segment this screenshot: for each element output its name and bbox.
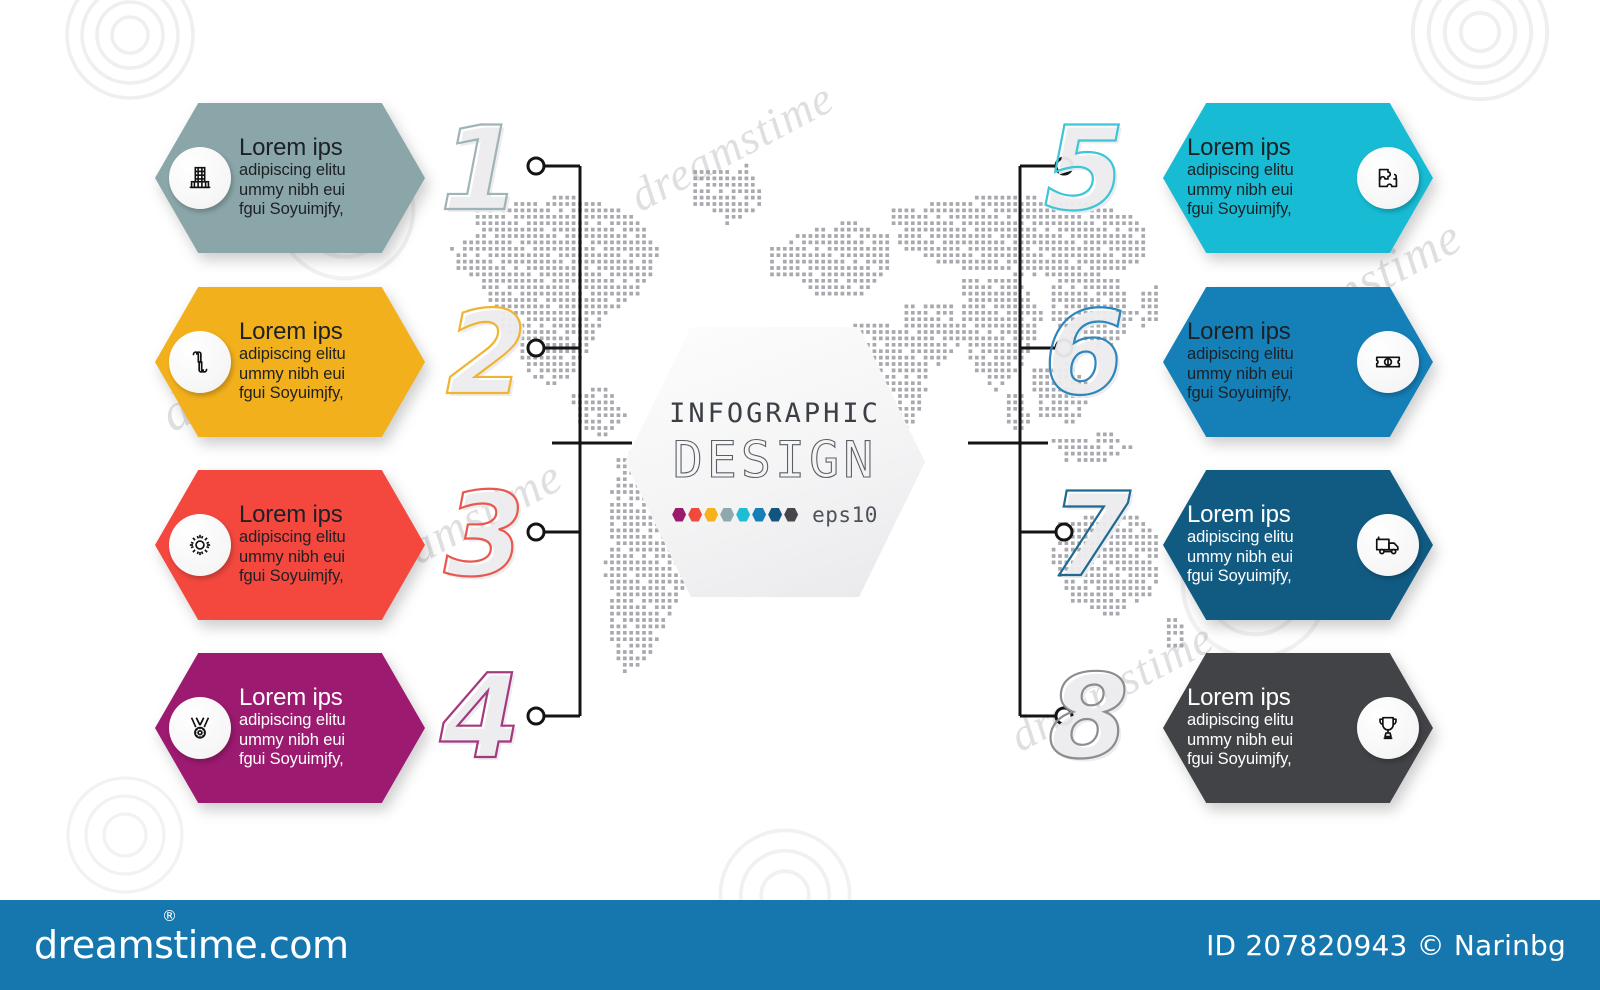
card-line-4: fgui Soyuimjfy, [239, 567, 411, 586]
medal-icon [169, 697, 231, 759]
image-credit: ID 207820943 © Narinbg [1206, 929, 1566, 962]
step-number-2: 2 [446, 296, 527, 412]
card-line-4: fgui Soyuimjfy, [1187, 384, 1351, 403]
center-hexagon: INFOGRAPHIC DESIGN eps10 [625, 327, 925, 597]
card-line-2: adipiscing elitu [239, 161, 411, 180]
color-swatch [736, 508, 750, 522]
step-card-3[interactable]: Lorem ips adipiscing elitu ummy nibh eui… [155, 470, 425, 620]
trophy-icon [1357, 697, 1419, 759]
gear-icon [169, 514, 231, 576]
step-number-1: 1 [440, 112, 521, 228]
card-line-3: ummy nibh eui [239, 731, 411, 750]
step-number-5: 5 [1044, 112, 1125, 228]
color-swatch [704, 508, 718, 522]
watermark-text: dreamstime [621, 71, 843, 222]
center-title-bottom: DESIGN [673, 431, 878, 489]
card-title: Lorem ips [239, 320, 411, 345]
card-line-4: fgui Soyuimjfy, [1187, 567, 1351, 586]
card-line-3: ummy nibh eui [239, 181, 411, 200]
step-number-4: 4 [440, 660, 521, 776]
card-line-3: ummy nibh eui [1187, 548, 1351, 567]
step-card-6[interactable]: Lorem ips adipiscing elitu ummy nibh eui… [1163, 287, 1433, 437]
card-line-3: ummy nibh eui [239, 548, 411, 567]
card-line-3: ummy nibh eui [1187, 731, 1351, 750]
card-line-4: fgui Soyuimjfy, [239, 750, 411, 769]
puzzle-icon [1357, 147, 1419, 209]
card-line-2: adipiscing elitu [1187, 711, 1351, 730]
ticket-icon [1357, 331, 1419, 393]
card-title: Lorem ips [1187, 320, 1351, 345]
card-line-2: adipiscing elitu [1187, 345, 1351, 364]
eps-label: eps10 [812, 503, 878, 527]
color-swatch [688, 508, 702, 522]
step-card-2[interactable]: Lorem ips adipiscing elitu ummy nibh eui… [155, 287, 425, 437]
color-swatch-row: eps10 [672, 503, 878, 527]
step-number-6: 6 [1044, 296, 1125, 412]
card-title: Lorem ips [239, 136, 411, 161]
step-card-7[interactable]: Lorem ips adipiscing elitu ummy nibh eui… [1163, 470, 1433, 620]
step-card-4[interactable]: Lorem ips adipiscing elitu ummy nibh eui… [155, 653, 425, 803]
color-swatch [784, 508, 798, 522]
color-swatch [672, 508, 686, 522]
card-title: Lorem ips [239, 686, 411, 711]
color-swatch [720, 508, 734, 522]
dreamstime-logo-text: dreamstime.com [34, 923, 348, 967]
card-title: Lorem ips [1187, 503, 1351, 528]
color-swatch [768, 508, 782, 522]
card-line-4: fgui Soyuimjfy, [239, 384, 411, 403]
card-line-2: adipiscing elitu [239, 528, 411, 547]
card-line-2: adipiscing elitu [239, 711, 411, 730]
step-card-1[interactable]: Lorem ips adipiscing elitu ummy nibh eui… [155, 103, 425, 253]
card-line-2: adipiscing elitu [1187, 528, 1351, 547]
building-icon [169, 147, 231, 209]
card-line-3: ummy nibh eui [1187, 181, 1351, 200]
color-swatch [752, 508, 766, 522]
infographic-canvas: dreamstime dreamstime dreamstime dreamst… [0, 0, 1600, 990]
card-title: Lorem ips [239, 503, 411, 528]
step-number-8: 8 [1048, 660, 1129, 776]
plug-icon [169, 331, 231, 393]
registered-mark-icon: ® [162, 907, 177, 925]
card-line-4: fgui Soyuimjfy, [239, 200, 411, 219]
center-title-top: INFOGRAPHIC [669, 398, 881, 429]
card-line-3: ummy nibh eui [1187, 365, 1351, 384]
card-line-4: fgui Soyuimjfy, [1187, 750, 1351, 769]
step-card-8[interactable]: Lorem ips adipiscing elitu ummy nibh eui… [1163, 653, 1433, 803]
card-title: Lorem ips [1187, 136, 1351, 161]
truck-icon [1357, 514, 1419, 576]
watermark-swirl [1400, 0, 1560, 112]
card-line-2: adipiscing elitu [1187, 161, 1351, 180]
card-line-4: fgui Soyuimjfy, [1187, 200, 1351, 219]
dreamstime-logo: dreamstime.com ® [34, 923, 348, 967]
step-card-5[interactable]: Lorem ips adipiscing elitu ummy nibh eui… [1163, 103, 1433, 253]
card-line-2: adipiscing elitu [239, 345, 411, 364]
step-number-7: 7 [1050, 478, 1131, 594]
step-number-3: 3 [444, 478, 525, 594]
watermark-swirl [55, 0, 205, 110]
dreamstime-footer-bar: dreamstime.com ® ID 207820943 © Narinbg [0, 900, 1600, 990]
card-line-3: ummy nibh eui [239, 365, 411, 384]
card-title: Lorem ips [1187, 686, 1351, 711]
